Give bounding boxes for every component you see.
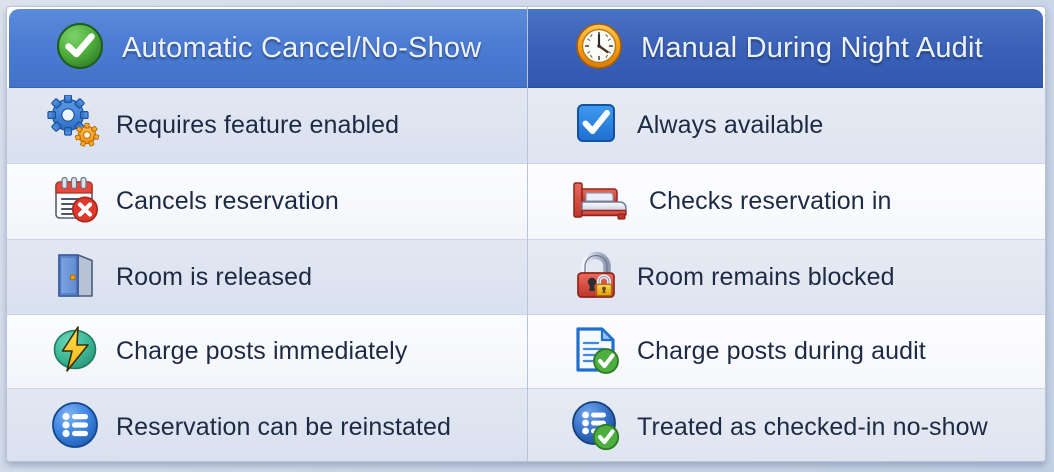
table-row[interactable]: Room remains blocked	[528, 240, 1045, 315]
table-row[interactable]: Treated as checked-in no-show	[528, 389, 1045, 461]
blue-checkbox-icon	[568, 95, 624, 156]
table-row[interactable]: Always available	[528, 88, 1045, 164]
column-manual-night-audit: Manual During Night Audit	[528, 7, 1045, 461]
column-automatic-cancel: Automatic Cancel/No-Show	[7, 7, 528, 461]
bullet-list-circle-icon	[47, 397, 103, 458]
table-row[interactable]: Room is released	[7, 240, 527, 315]
column-header-title-automatic: Automatic Cancel/No-Show	[122, 32, 481, 65]
table-cell-label: Room remains blocked	[637, 263, 895, 292]
lightning-bolt-icon	[47, 321, 103, 382]
green-check-circle-icon	[55, 21, 105, 76]
gears-icon	[47, 95, 103, 156]
table-cell-label: Cancels reservation	[116, 187, 339, 216]
column-header-title-manual: Manual During Night Audit	[641, 32, 983, 65]
table-row[interactable]: Reservation can be reinstated	[7, 389, 527, 461]
table-row[interactable]: Charge posts during audit	[528, 315, 1045, 389]
calendar-cancel-icon	[47, 171, 103, 232]
column-header-manual: Manual During Night Audit	[528, 9, 1043, 88]
column-header-automatic: Automatic Cancel/No-Show	[9, 9, 527, 88]
table-cell-label: Charge posts during audit	[637, 337, 926, 366]
comparison-table-page: Automatic Cancel/No-Show	[0, 0, 1054, 472]
bed-icon	[568, 171, 636, 232]
table-cell-label: Treated as checked-in no-show	[637, 413, 988, 442]
table-row[interactable]: Charge posts immediately	[7, 315, 527, 389]
table-cell-label: Requires feature enabled	[116, 111, 399, 140]
table-row[interactable]: Cancels reservation	[7, 164, 527, 240]
padlock-locked-icon	[568, 247, 624, 308]
clock-icon	[574, 21, 624, 76]
document-check-icon	[568, 321, 624, 382]
table-row[interactable]: Checks reservation in	[528, 164, 1045, 240]
table-cell-label: Checks reservation in	[649, 187, 891, 216]
bullet-list-check-icon	[568, 397, 624, 458]
table-cell-label: Room is released	[116, 263, 312, 292]
comparison-table: Automatic Cancel/No-Show	[6, 6, 1046, 462]
open-door-icon	[47, 247, 103, 308]
table-row[interactable]: Requires feature enabled	[7, 88, 527, 164]
table-cell-label: Reservation can be reinstated	[116, 413, 451, 442]
table-cell-label: Charge posts immediately	[116, 337, 407, 366]
table-cell-label: Always available	[637, 111, 823, 140]
table-columns: Automatic Cancel/No-Show	[7, 7, 1045, 461]
